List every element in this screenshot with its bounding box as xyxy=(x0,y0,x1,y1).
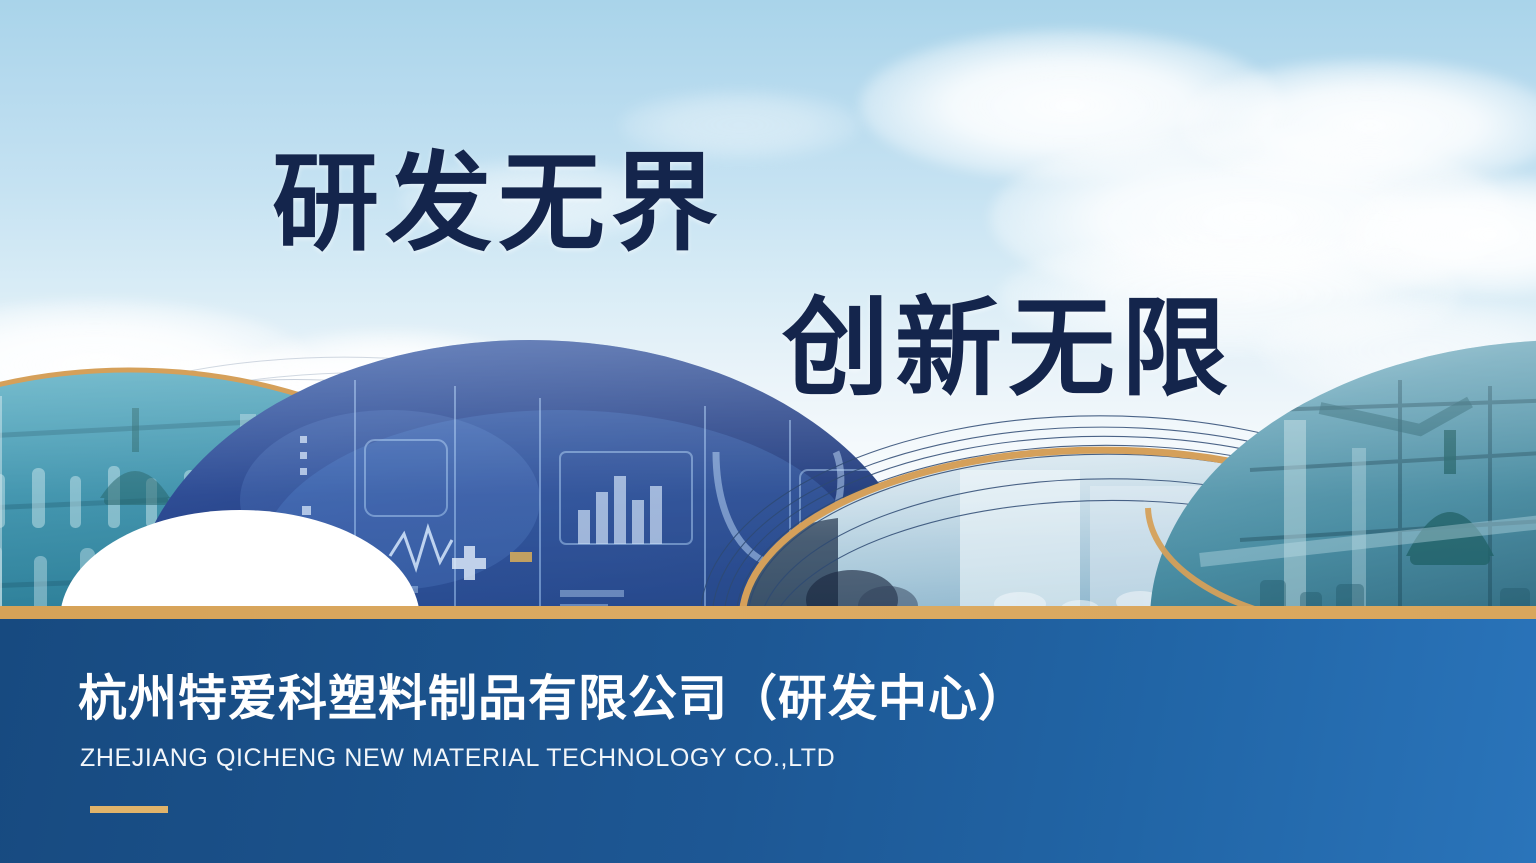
arc-decoration-artwork xyxy=(0,0,1536,620)
company-name-en: ZHEJIANG QICHENG NEW MATERIAL TECHNOLOGY… xyxy=(80,744,835,773)
gold-divider-bar xyxy=(0,606,1536,619)
cover-slide: 研发无界 创新无限 杭州特爱科塑料制品有限公司（研发中心） ZHEJIANG Q… xyxy=(0,0,1536,863)
footer-band xyxy=(0,619,1536,863)
company-name-cn: 杭州特爱科塑料制品有限公司（研发中心） xyxy=(78,659,1028,730)
footer-accent-rule xyxy=(90,806,168,813)
